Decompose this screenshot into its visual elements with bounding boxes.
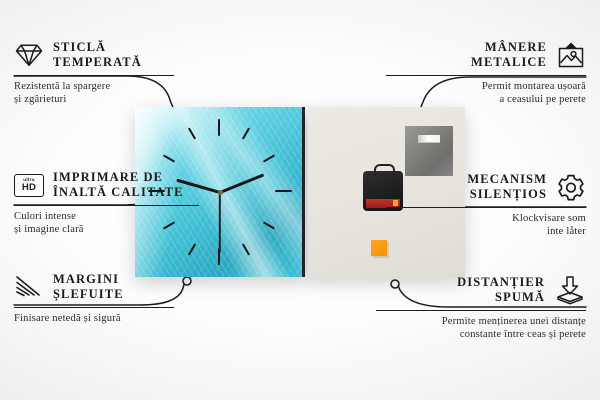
feature-header: STICLĂ TEMPERATĂ bbox=[14, 40, 214, 71]
spacer-arrow-icon bbox=[554, 275, 586, 305]
clock-tick bbox=[163, 154, 175, 162]
feature-polished-edges: MARGINI ȘLEFUITE Finisare netedă și sigu… bbox=[14, 272, 214, 325]
diamond-icon bbox=[14, 42, 44, 68]
feature-title-line2: TEMPERATĂ bbox=[53, 55, 142, 70]
feature-header: MECANISM SILENȚIOS bbox=[386, 172, 586, 203]
feature-divider bbox=[14, 75, 174, 76]
feature-subtitle-line1: Culori intense bbox=[14, 210, 224, 224]
feature-tempered-glass: STICLĂ TEMPERATĂ Rezistentă la spargere … bbox=[14, 40, 214, 107]
feature-title-line1: IMPRIMARE DE bbox=[53, 170, 184, 185]
feature-header: ultra HD IMPRIMARE DE ÎNALTĂ CALITATE bbox=[14, 170, 224, 201]
clock-tick bbox=[275, 190, 292, 192]
feature-title-line2: SILENȚIOS bbox=[467, 187, 547, 202]
feature-divider bbox=[376, 310, 586, 311]
feature-title-line1: DISTANȚIER bbox=[457, 275, 545, 290]
feature-silent-mechanism: MECANISM SILENȚIOS Klockvisare som inte … bbox=[386, 172, 586, 239]
feature-header: MARGINI ȘLEFUITE bbox=[14, 272, 214, 303]
ultra-hd-icon: ultra HD bbox=[14, 174, 44, 197]
clock-tick bbox=[188, 127, 196, 139]
feature-print-quality: ultra HD IMPRIMARE DE ÎNALTĂ CALITATE Cu… bbox=[14, 170, 224, 237]
feature-title-line1: STICLĂ bbox=[53, 40, 142, 55]
feature-metal-handles: MÂNERE METALICE Permit montarea ușoară a… bbox=[386, 40, 586, 107]
feature-subtitle-line1: Permite menținerea unei distanțe bbox=[376, 315, 586, 329]
feature-title-line1: MARGINI bbox=[53, 272, 124, 287]
clock-tick bbox=[242, 127, 250, 139]
feature-foam-spacer: DISTANȚIER SPUMĂ Permite menținerea unei… bbox=[376, 275, 586, 342]
feature-header: DISTANȚIER SPUMĂ bbox=[376, 275, 586, 306]
feature-header: MÂNERE METALICE bbox=[386, 40, 586, 71]
clock-tick bbox=[188, 243, 196, 255]
polished-edges-icon bbox=[14, 275, 44, 299]
feature-subtitle-line2: și zgârieturi bbox=[14, 93, 214, 107]
feature-divider bbox=[386, 207, 586, 208]
feature-subtitle-line2: inte låter bbox=[386, 225, 586, 239]
feature-title-line2: METALICE bbox=[471, 55, 547, 70]
metal-hanger-part bbox=[405, 126, 453, 176]
feature-subtitle-line1: Klockvisare som bbox=[386, 212, 586, 226]
feature-subtitle-line2: a ceasului pe perete bbox=[386, 93, 586, 107]
ultra-hd-badge-main: HD bbox=[22, 183, 36, 193]
feature-subtitle-line1: Permit montarea ușoară bbox=[386, 80, 586, 94]
feature-divider bbox=[14, 307, 174, 308]
infographic-canvas: STICLĂ TEMPERATĂ Rezistentă la spargere … bbox=[0, 0, 600, 400]
feature-divider bbox=[386, 75, 586, 76]
feature-title-line2: SPUMĂ bbox=[457, 290, 545, 305]
clock-hand-hour bbox=[219, 174, 264, 194]
feature-divider bbox=[14, 205, 199, 206]
hanger-slot bbox=[418, 135, 440, 142]
foam-spacer-part bbox=[371, 240, 387, 256]
feature-title-line2: ȘLEFUITE bbox=[53, 287, 124, 302]
feature-subtitle-line2: și imagine clară bbox=[14, 223, 224, 237]
picture-frame-icon bbox=[556, 42, 586, 69]
feature-title-line2: ÎNALTĂ CALITATE bbox=[53, 185, 184, 200]
clock-tick bbox=[242, 243, 250, 255]
gear-icon bbox=[556, 173, 586, 202]
clock-tick bbox=[263, 154, 275, 162]
clock-tick bbox=[263, 221, 275, 229]
feature-subtitle-line2: constante între ceas și perete bbox=[376, 328, 586, 342]
clock-tick bbox=[218, 119, 220, 136]
feature-title-line1: MÂNERE bbox=[471, 40, 547, 55]
feature-title-line1: MECANISM bbox=[467, 172, 547, 187]
feature-subtitle-line1: Finisare netedă și sigură bbox=[14, 312, 214, 326]
feature-subtitle-line1: Rezistentă la spargere bbox=[14, 80, 214, 94]
